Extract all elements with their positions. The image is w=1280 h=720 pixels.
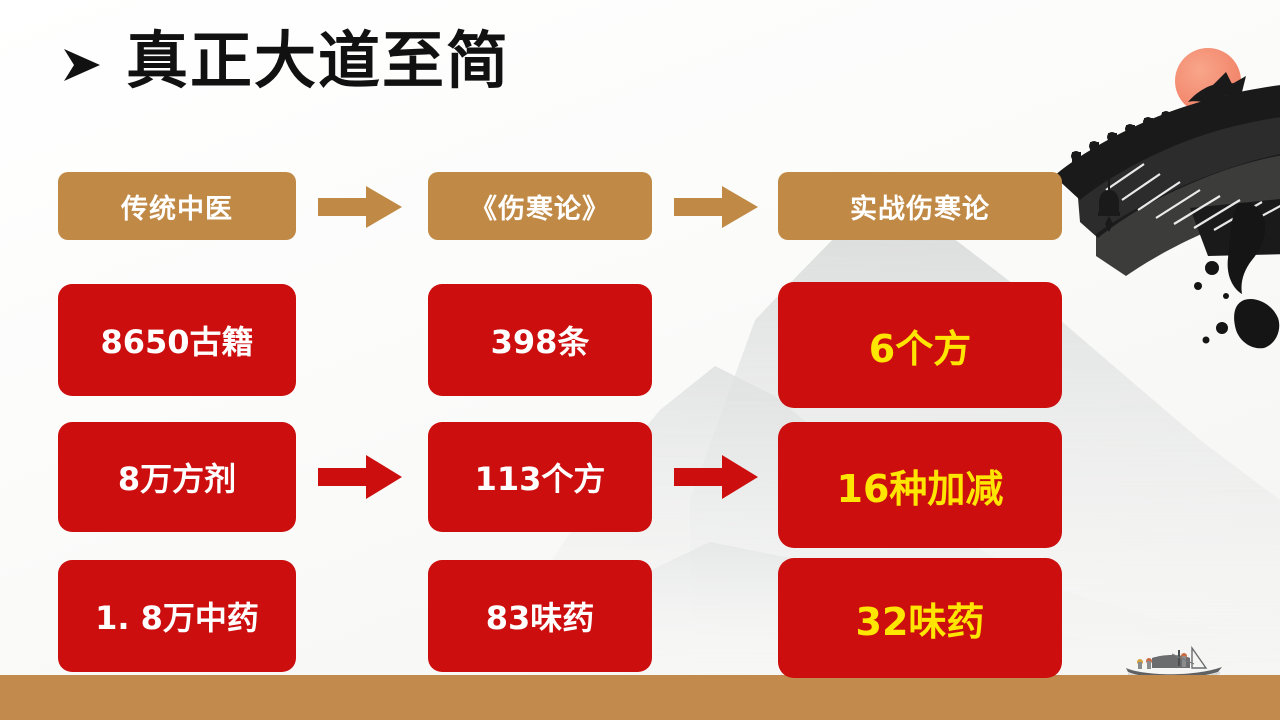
cell-practical-1: 6个方 <box>778 282 1062 408</box>
cell-traditional-3: 1. 8万中药 <box>58 560 296 672</box>
cell-practical-2: 16种加减 <box>778 422 1062 548</box>
column-header-practical: 实战伤寒论 <box>778 172 1062 240</box>
cell-traditional-2: 8万方剂 <box>58 422 296 532</box>
comparison-diagram: 传统中医 《伤寒论》 实战伤寒论 8650古籍 398条 6个方 8万方剂 11… <box>0 0 1280 720</box>
cell-shanghanlun-1: 398条 <box>428 284 652 396</box>
header-arrow-2-icon <box>674 186 758 228</box>
row2-arrow-2-icon <box>674 455 758 499</box>
cell-shanghanlun-2: 113个方 <box>428 422 652 532</box>
cell-traditional-1: 8650古籍 <box>58 284 296 396</box>
row2-arrow-1-icon <box>318 455 402 499</box>
header-arrow-1-icon <box>318 186 402 228</box>
cell-shanghanlun-3: 83味药 <box>428 560 652 672</box>
column-header-traditional: 传统中医 <box>58 172 296 240</box>
slide-canvas: 真正大道至简 传统中医 《伤寒论》 实战伤寒论 8650古籍 398条 6个方 … <box>0 0 1280 720</box>
cell-practical-3: 32味药 <box>778 558 1062 678</box>
column-header-shanghanlun: 《伤寒论》 <box>428 172 652 240</box>
